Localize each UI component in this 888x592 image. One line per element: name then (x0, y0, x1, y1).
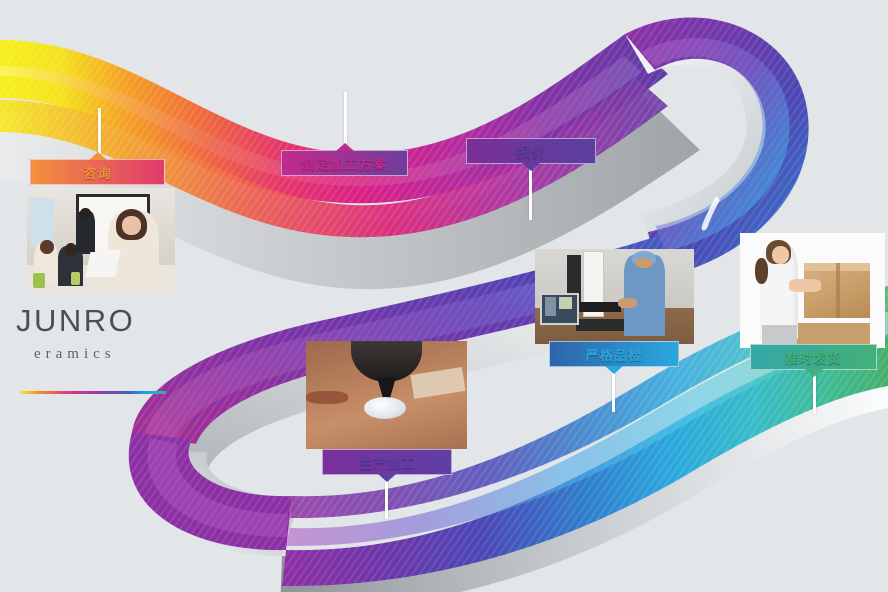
label-notch-consult (89, 152, 107, 160)
label-notch-inspection (605, 366, 623, 374)
photo-art-shipping (740, 233, 885, 348)
photo-art-consult (27, 188, 175, 292)
step-label-plan[interactable]: 制定加工方案 (281, 150, 408, 176)
step-photo-inspection (535, 249, 694, 344)
step-label-text-shipping: 准时发货 (785, 348, 842, 367)
photo-art-inspection (535, 249, 694, 344)
step-label-text-plan: 制定加工方案 (302, 154, 387, 173)
flow-infographic: JUNRO eramics 咨询制定加工方案报价 生产加工 (0, 0, 888, 592)
connector-stem-plan (344, 92, 347, 150)
brand-name: JUNRO (16, 305, 206, 336)
step-photo-shipping (740, 233, 885, 348)
photo-art-production (306, 341, 467, 449)
brand-subtitle: eramics (34, 346, 206, 363)
step-label-text-production: 生产加工 (359, 453, 416, 472)
step-label-text-consult: 咨询 (83, 163, 111, 182)
step-label-production[interactable]: 生产加工 (322, 449, 452, 475)
step-label-quote[interactable]: 报价 (466, 138, 596, 164)
step-label-inspection[interactable]: 严格品检 (549, 341, 679, 367)
label-notch-shipping (805, 369, 823, 377)
step-photo-production (306, 341, 467, 449)
step-label-text-inspection: 严格品检 (586, 345, 643, 364)
step-label-consult[interactable]: 咨询 (30, 159, 165, 185)
label-notch-quote (522, 163, 540, 171)
label-notch-plan (336, 143, 354, 151)
label-notch-production (378, 474, 396, 482)
step-label-text-quote: 报价 (517, 142, 545, 161)
step-label-shipping[interactable]: 准时发货 (750, 344, 877, 370)
brand-logo: JUNRO eramics (16, 305, 206, 394)
connector-stem-quote (529, 164, 532, 220)
step-photo-consult (27, 188, 175, 292)
brand-rainbow-rule (20, 391, 166, 394)
